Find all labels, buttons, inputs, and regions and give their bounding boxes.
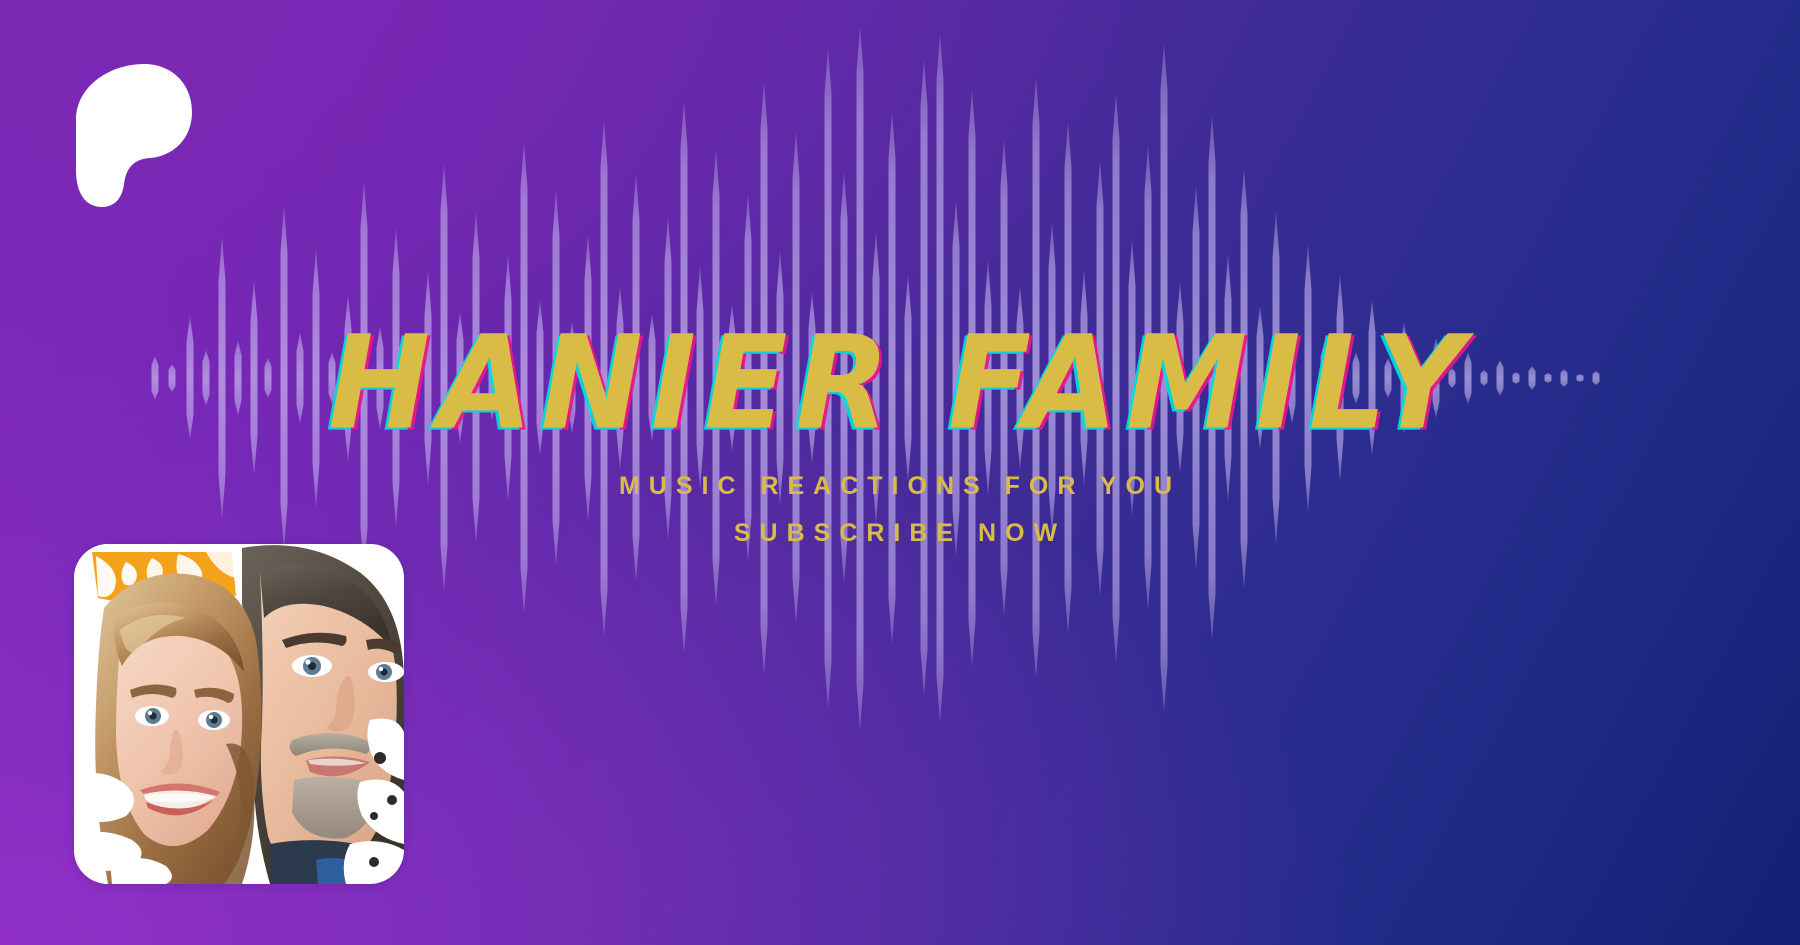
subtitle-group: MUSIC REACTIONS FOR YOU SUBSCRIBE NOW [0, 474, 1800, 546]
subtitle-line-1: MUSIC REACTIONS FOR YOU [0, 474, 1800, 499]
patreon-logo[interactable] [74, 58, 192, 210]
page-title: HANIER FAMILY [0, 318, 1800, 447]
channel-banner: HANIER FAMILY MUSIC REACTIONS FOR YOU SU… [0, 0, 1800, 945]
subtitle-line-2: SUBSCRIBE NOW [0, 521, 1800, 546]
banner-text-block: HANIER FAMILY MUSIC REACTIONS FOR YOU SU… [0, 322, 1800, 546]
channel-avatar[interactable] [74, 544, 404, 884]
